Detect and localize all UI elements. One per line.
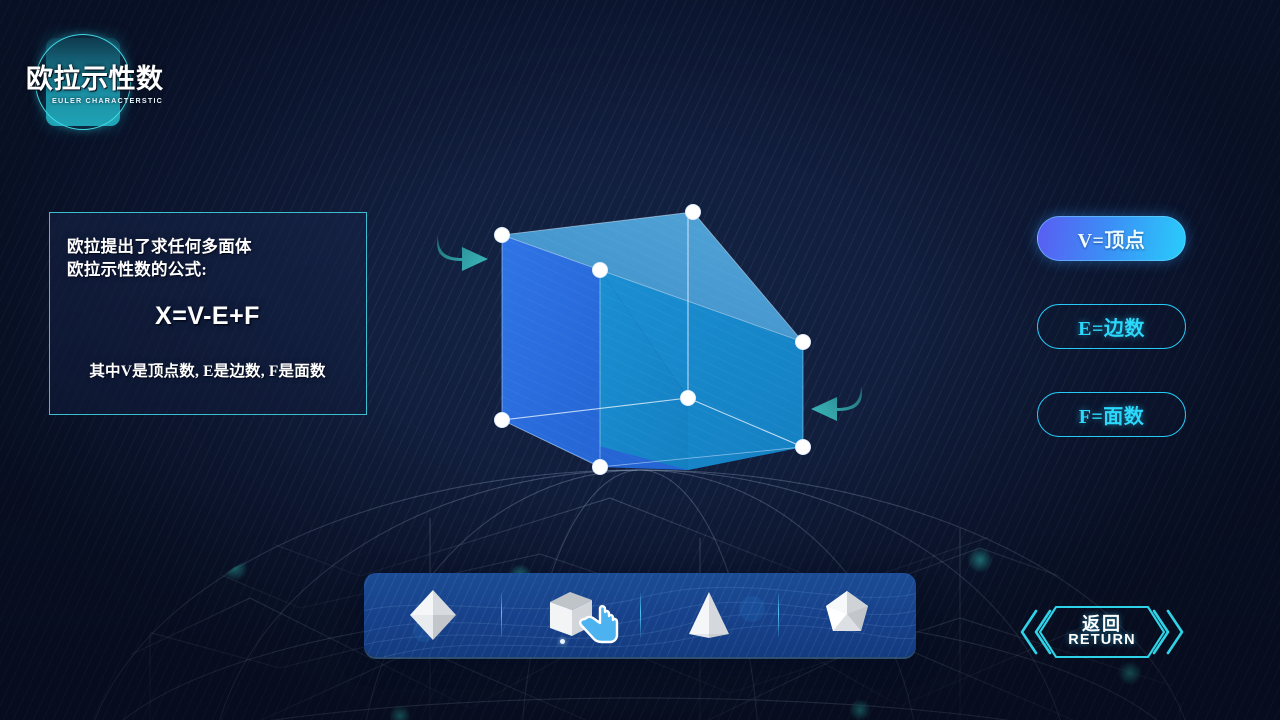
return-button[interactable]: 返回 RETURN	[1018, 601, 1186, 663]
cube-3d[interactable]	[420, 170, 900, 510]
legend-faces-button[interactable]: F=面数	[1037, 392, 1186, 437]
slide-stage: 欧拉示性数 EULER CHARACTERSTIC 欧拉提出了求任何多面体 欧拉…	[0, 0, 1280, 720]
shape-option-icosahedron[interactable]	[779, 573, 916, 657]
euler-formula: X=V-E+F	[67, 302, 348, 331]
rotate-left-arrow-icon[interactable]	[805, 378, 867, 430]
octahedron-icon	[402, 584, 464, 646]
info-line-2: 欧拉示性数的公式:	[67, 258, 348, 281]
cube-selected-indicator	[560, 639, 565, 644]
legend-list: V=顶点 E=边数 F=面数	[1037, 216, 1187, 480]
shape-option-tetrahedron[interactable]	[641, 573, 778, 657]
return-button-frame	[1018, 601, 1186, 663]
rotate-right-arrow-icon[interactable]	[432, 228, 494, 280]
cube-viewport[interactable]	[420, 170, 900, 510]
legend-faces-label: F=面数	[1079, 400, 1145, 429]
info-panel: 欧拉提出了求任何多面体 欧拉示性数的公式: X=V-E+F 其中V是顶点数, E…	[49, 212, 367, 415]
shape-selector-bar	[364, 573, 916, 657]
legend-edges-label: E=边数	[1078, 312, 1145, 341]
info-line-1: 欧拉提出了求任何多面体	[67, 235, 348, 258]
legend-edges-button[interactable]: E=边数	[1037, 304, 1186, 349]
logo-title: 欧拉示性数	[26, 66, 182, 93]
logo-text-block: 欧拉示性数 EULER CHARACTERSTIC	[26, 66, 182, 105]
pyramid-icon	[679, 586, 739, 644]
logo: 欧拉示性数 EULER CHARACTERSTIC	[26, 26, 182, 146]
icosahedron-icon	[819, 587, 875, 643]
shape-option-cube[interactable]	[502, 573, 639, 657]
info-note: 其中V是顶点数, E是边数, F是面数	[67, 359, 348, 381]
logo-subtitle: EULER CHARACTERSTIC	[52, 96, 182, 105]
legend-vertices-label: V=顶点	[1078, 224, 1146, 253]
shape-option-octahedron[interactable]	[364, 573, 501, 657]
cube-icon	[542, 586, 600, 644]
legend-vertices-button[interactable]: V=顶点	[1037, 216, 1186, 261]
